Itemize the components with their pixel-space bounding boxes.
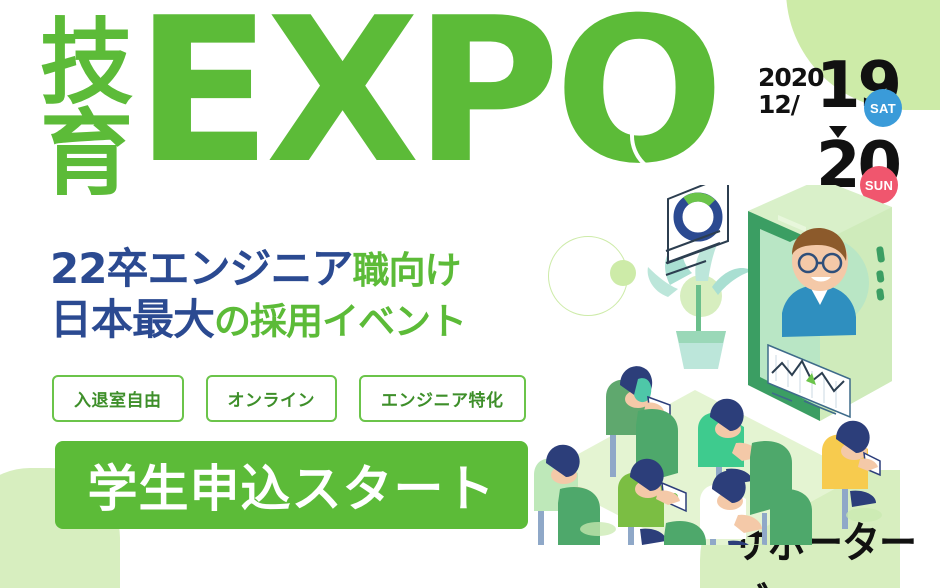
event-banner: 技 育 EXPO 2020 12/ 19 20 SAT SUN 22卒エンジニア… bbox=[0, 0, 940, 588]
ground-shadow bbox=[846, 508, 882, 522]
date-year-month: 2020 12/ bbox=[758, 64, 824, 118]
date-year: 2020 bbox=[758, 64, 824, 91]
ground-shadow bbox=[580, 522, 616, 536]
online-seminar-illustration bbox=[520, 185, 940, 545]
tag-row: 入退室自由 オンライン エンジニア特化 bbox=[52, 375, 526, 422]
tag-pill-engineer-focus[interactable]: エンジニア特化 bbox=[359, 375, 526, 422]
title-expo-word: EXPO bbox=[135, 10, 718, 174]
potted-plant-icon bbox=[648, 237, 752, 369]
title-kanji-stack: 技 育 bbox=[40, 18, 131, 200]
subtitle: 22卒エンジニア職向け 日本最大の採用イベント bbox=[50, 243, 466, 345]
page-title: 技 育 EXPO bbox=[40, 18, 718, 200]
subtitle-line-1: 22卒エンジニア職向け bbox=[50, 243, 466, 294]
subtitle-line-2-navy: 日本最大 bbox=[50, 295, 214, 344]
tag-pill-online[interactable]: オンライン bbox=[206, 375, 338, 422]
title-kanji-iku: 育 bbox=[40, 109, 131, 200]
title-kanji-gi: 技 bbox=[40, 18, 131, 109]
subtitle-line-1-navy: 22卒エンジニア bbox=[50, 244, 352, 293]
date-month: 12/ bbox=[758, 91, 824, 118]
subtitle-line-1-green: 職向け bbox=[352, 249, 460, 292]
status-badge-saturday: SAT bbox=[864, 89, 902, 127]
subtitle-line-2-green: の採用イベント bbox=[214, 300, 466, 343]
tag-pill-free-entry[interactable]: 入退室自由 bbox=[52, 375, 184, 422]
student-application-start-button[interactable]: 学生申込スタート bbox=[55, 441, 528, 529]
subtitle-line-2: 日本最大の採用イベント bbox=[50, 294, 466, 345]
